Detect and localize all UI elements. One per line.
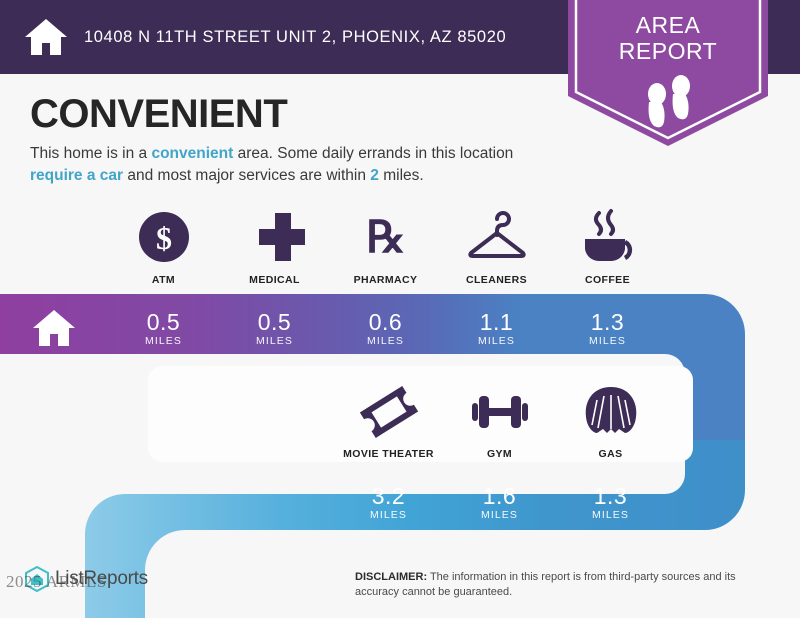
service-label: MEDICAL (249, 274, 300, 286)
medical-cross-icon (245, 207, 305, 267)
home-icon (31, 308, 77, 348)
service-item-atm: $ ATM (108, 207, 219, 286)
service-item-gym: GYM (444, 383, 555, 460)
service-item-medical: MEDICAL (219, 207, 330, 286)
service-item-pharmacy: ℞ PHARMACY (330, 207, 441, 286)
service-item-gas: GAS (555, 383, 666, 460)
area-report-page: 10408 N 11TH STREET UNIT 2, PHOENIX, AZ … (0, 0, 800, 618)
service-label: ATM (152, 274, 175, 286)
area-report-badge: AREA REPORT (568, 0, 768, 146)
service-label: COFFEE (585, 274, 630, 286)
coffee-cup-icon (577, 207, 639, 267)
header-address-group: 10408 N 11TH STREET UNIT 2, PHOENIX, AZ … (24, 0, 506, 74)
service-icon-row-top: $ ATM MEDICAL ℞ PHARMACY CLEANERS (108, 214, 663, 286)
desc-part-3: and most major services are within (123, 167, 370, 184)
svg-text:$: $ (156, 220, 172, 256)
svg-text:℞: ℞ (366, 213, 405, 262)
property-address: 10408 N 11TH STREET UNIT 2, PHOENIX, AZ … (84, 28, 506, 47)
dollar-circle-icon: $ (134, 207, 194, 267)
service-icon-row-bottom: MOVIE THEATER GYM GAS (333, 388, 666, 460)
service-label: MOVIE THEATER (343, 448, 434, 460)
desc-highlight-1: convenient (151, 145, 233, 162)
service-label: PHARMACY (354, 274, 418, 286)
service-item-cleaners: CLEANERS (441, 209, 552, 286)
service-item-coffee: COFFEE (552, 207, 663, 286)
dumbbell-icon (468, 383, 532, 441)
desc-part-1: This home is in a (30, 145, 151, 162)
gas-shell-icon (581, 383, 641, 441)
desc-part-4: miles. (379, 167, 424, 184)
service-label: GAS (599, 448, 623, 460)
home-origin-cell (0, 298, 108, 358)
service-label: CLEANERS (466, 274, 527, 286)
movie-ticket-icon (358, 383, 420, 441)
service-label: GYM (487, 448, 512, 460)
desc-highlight-3: 2 (370, 167, 379, 184)
rx-icon: ℞ (356, 207, 416, 267)
hanger-icon (465, 209, 529, 267)
page-description: This home is in a convenient area. Some … (30, 143, 570, 187)
disclaimer: DISCLAIMER: The information in this repo… (355, 570, 775, 600)
desc-part-2: area. Some daily errands in this locatio… (233, 145, 513, 162)
home-icon (24, 17, 68, 57)
mls-watermark: 2025 ARMLS (6, 572, 107, 592)
service-item-movie-theater: MOVIE THEATER (333, 383, 444, 460)
desc-highlight-2: require a car (30, 167, 123, 184)
page-title: CONVENIENT (30, 92, 287, 137)
disclaimer-label: DISCLAIMER: (355, 571, 427, 583)
